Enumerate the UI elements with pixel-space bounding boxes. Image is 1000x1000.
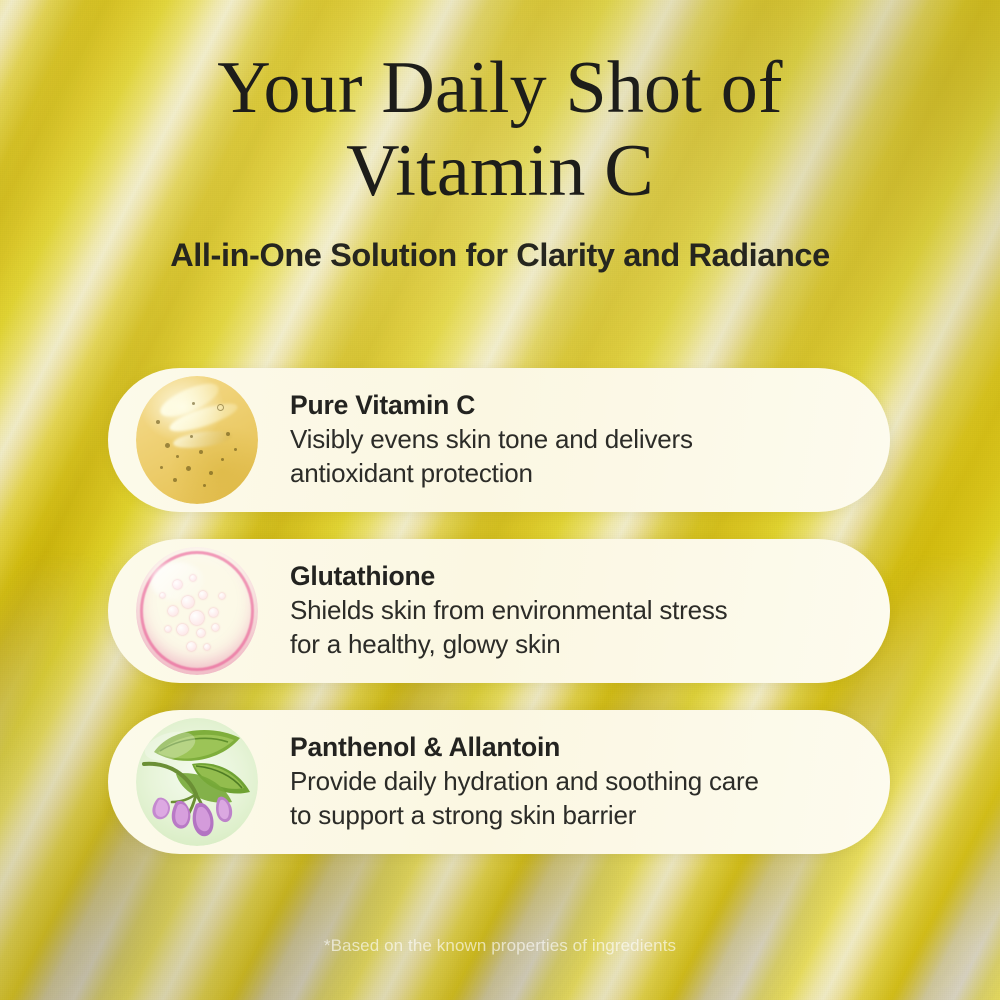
benefit-card-title: Pure Vitamin C xyxy=(290,390,693,421)
benefit-card-text: Glutathione Shields skin from environmen… xyxy=(290,561,727,661)
page-subtitle: All-in-One Solution for Clarity and Radi… xyxy=(0,237,1000,274)
benefit-card-list: Pure Vitamin C Visibly evens skin tone a… xyxy=(108,368,890,854)
benefit-card-text: Panthenol & Allantoin Provide daily hydr… xyxy=(290,732,759,832)
benefit-card-title: Glutathione xyxy=(290,561,727,592)
footnote-disclaimer: *Based on the known properties of ingred… xyxy=(0,936,1000,956)
benefit-card-title: Panthenol & Allantoin xyxy=(290,732,759,763)
page-title: Your Daily Shot of Vitamin C xyxy=(0,52,1000,207)
benefit-card-panthenol-allantoin: Panthenol & Allantoin Provide daily hydr… xyxy=(108,710,890,854)
glutathione-pink-sphere-icon xyxy=(136,547,258,675)
vitamin-c-gel-drop-icon xyxy=(136,376,258,504)
benefit-card-description: Visibly evens skin tone and delivers ant… xyxy=(290,423,693,490)
benefit-card-pure-vitamin-c: Pure Vitamin C Visibly evens skin tone a… xyxy=(108,368,890,512)
benefit-card-text: Pure Vitamin C Visibly evens skin tone a… xyxy=(290,390,693,490)
comfrey-plant-flower-icon xyxy=(136,718,258,846)
header: Your Daily Shot of Vitamin C All-in-One … xyxy=(0,52,1000,274)
page-title-line-2: Vitamin C xyxy=(60,135,940,208)
benefit-card-glutathione: Glutathione Shields skin from environmen… xyxy=(108,539,890,683)
benefit-card-description: Shields skin from environmental stress f… xyxy=(290,594,727,661)
product-benefits-poster: Your Daily Shot of Vitamin C All-in-One … xyxy=(0,0,1000,1000)
benefit-card-description: Provide daily hydration and soothing car… xyxy=(290,765,759,832)
page-title-line-1: Your Daily Shot of xyxy=(217,47,783,129)
